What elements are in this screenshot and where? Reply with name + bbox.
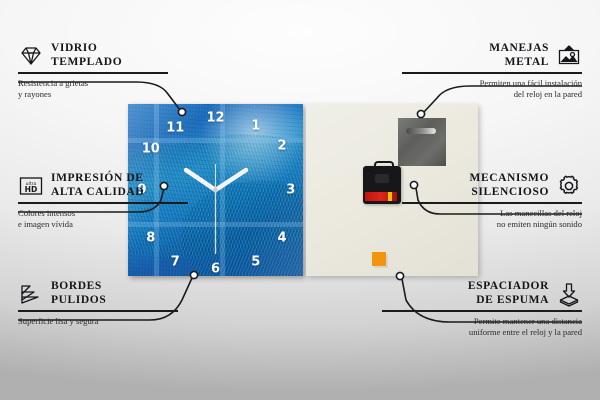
- callout-divider: [402, 202, 582, 204]
- callout-desc-line1: Resistencia a grietas: [18, 78, 168, 89]
- callout-title-line2: METAL: [489, 56, 549, 70]
- callout-desc-line1: Las manecillas del reloj: [402, 208, 582, 219]
- picture-frame-icon: [556, 43, 582, 69]
- callout-title-line2: ALTA CALIDAD: [51, 186, 144, 200]
- callout-divider: [18, 72, 168, 74]
- callout-title-line1: MANEJAS: [489, 42, 549, 56]
- callout-desc-line1: Permite mantener una distancia: [382, 316, 582, 327]
- callout-vidrio-templado: VIDRIO TEMPLADO Resistencia a grietas y …: [18, 42, 168, 100]
- callout-title-line2: TEMPLADO: [51, 56, 122, 70]
- callout-desc-line2: y rayones: [18, 89, 168, 100]
- callout-desc-line2: uniforme entre el reloj y la pared: [382, 327, 582, 338]
- callout-divider: [18, 202, 188, 204]
- battery-label: [365, 192, 397, 201]
- callout-title-line1: IMPRESIÓN DE: [51, 172, 144, 186]
- battery-stripe: [388, 192, 392, 201]
- callout-title-line2: DE ESPUMA: [468, 294, 549, 308]
- callout-title-line1: VIDRIO: [51, 42, 122, 56]
- ultra-hd-icon: ultra HD: [18, 173, 44, 199]
- infographic-canvas: 12 1 2 3 4 5 6 7 8 9 10 11: [0, 0, 600, 400]
- callout-title-line1: ESPACIADOR: [468, 280, 549, 294]
- metal-hanger-plate: [398, 118, 446, 166]
- callout-espaciador-espuma: ESPACIADOR DE ESPUMA Permite mantener un…: [382, 280, 582, 338]
- callout-bordes-pulidos: BORDES PULIDOS Superficie lisa y segura: [18, 280, 178, 327]
- callout-title-line1: BORDES: [51, 280, 106, 294]
- diamond-icon: [18, 43, 44, 69]
- callout-desc-line1: Permiten una fácil instalación: [402, 78, 582, 89]
- hanger-keyhole-slot: [406, 128, 436, 134]
- movement-shaft-housing: [375, 174, 389, 183]
- quartz-movement: [363, 166, 401, 204]
- callout-manejas-metal: MANEJAS METAL Permiten una fácil instala…: [402, 42, 582, 100]
- callout-divider: [382, 310, 582, 312]
- callout-desc-line2: no emiten ningún sonido: [402, 219, 582, 230]
- foam-spacer-pad: [372, 252, 386, 266]
- callout-title-line1: MECANISMO: [469, 172, 549, 186]
- callout-desc-line1: Superficie lisa y segura: [18, 316, 178, 327]
- foam-spacer-icon: [556, 281, 582, 307]
- callout-desc-line2: e imagen vívida: [18, 219, 188, 230]
- callout-mecanismo-silencioso: MECANISMO SILENCIOSO Las manecillas del …: [402, 172, 582, 230]
- svg-text:HD: HD: [25, 185, 38, 194]
- callout-desc-line1: Colores intensos: [18, 208, 188, 219]
- callout-title-line2: PULIDOS: [51, 294, 106, 308]
- callout-divider: [18, 310, 178, 312]
- callout-divider: [402, 72, 582, 74]
- gear-icon: [556, 173, 582, 199]
- callout-desc-line2: del reloj en la pared: [402, 89, 582, 100]
- callout-impresion-alta-calidad: ultra HD IMPRESIÓN DE ALTA CALIDAD Color…: [18, 172, 188, 230]
- movement-hanging-tab: [374, 161, 394, 169]
- callout-title-line2: SILENCIOSO: [469, 186, 549, 200]
- polished-edges-icon: [18, 281, 44, 307]
